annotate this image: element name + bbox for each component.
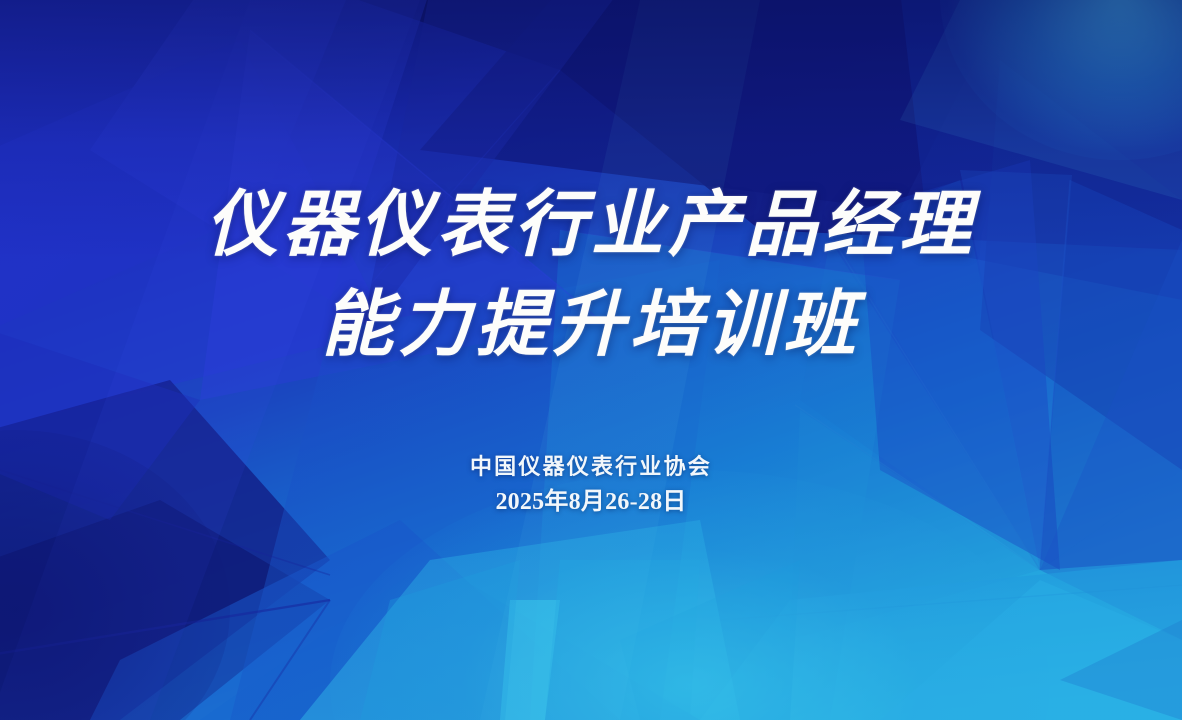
background-geometric-pattern	[0, 0, 1182, 720]
conference-banner: 仪器仪表行业产品经理 能力提升培训班 中国仪器仪表行业协会 2025年8月26-…	[0, 0, 1182, 720]
